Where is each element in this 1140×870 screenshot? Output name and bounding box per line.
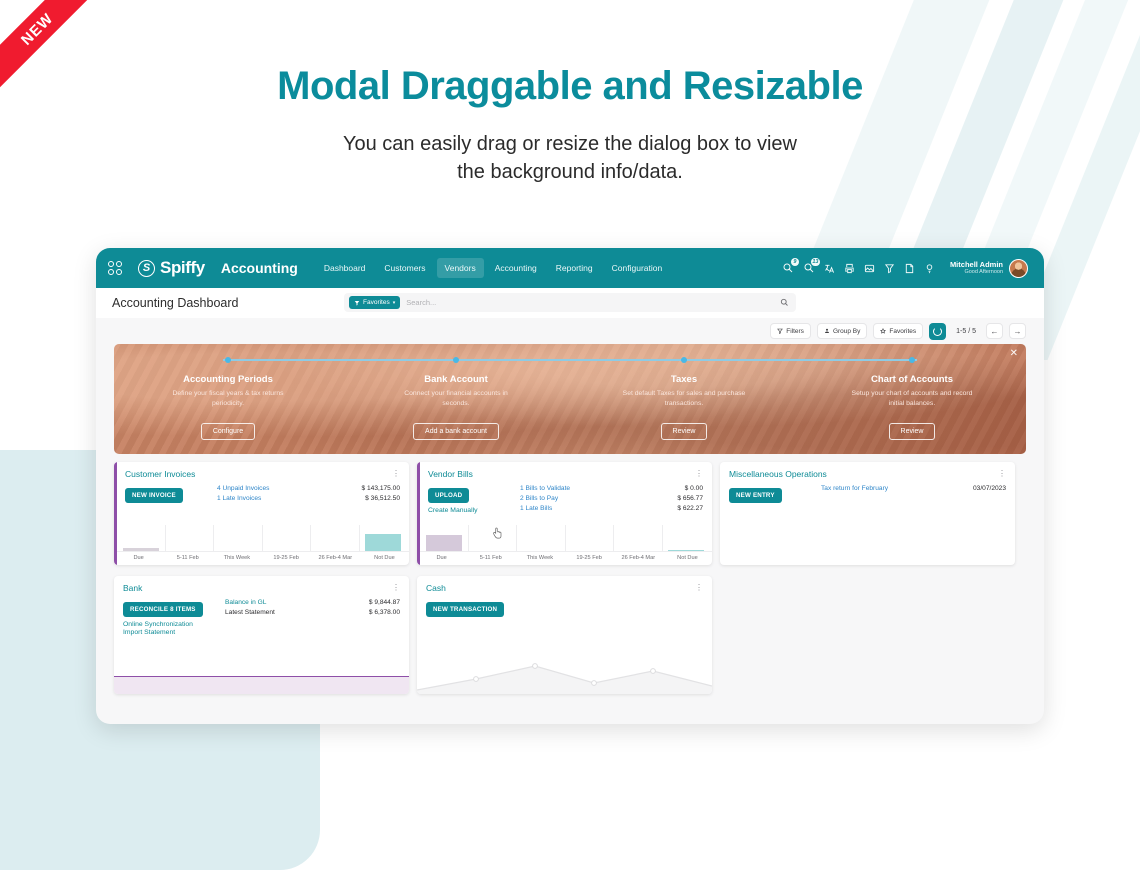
import-statement-link[interactable]: Import Statement: [123, 629, 219, 636]
step-title: Taxes: [671, 374, 697, 385]
bills-to-pay-value: $ 656.77: [677, 494, 703, 504]
search-bar[interactable]: Favorites ▾ Search...: [344, 293, 796, 312]
step-dot-icon: [453, 357, 459, 363]
dashboard-card-row-1: Customer Invoices ⋮ NEW INVOICE 4 Unpaid…: [96, 454, 1044, 565]
app-name-label: Accounting: [221, 260, 298, 276]
onboarding-step-chart-of-accounts: Chart of Accounts Setup your chart of ac…: [798, 344, 1026, 454]
search-input[interactable]: Search...: [406, 298, 780, 307]
late-bills-label[interactable]: 1 Late Bills: [520, 504, 671, 514]
kebab-menu-icon[interactable]: ⋮: [392, 586, 400, 590]
onboarding-step-bank-account: Bank Account Connect your financial acco…: [342, 344, 570, 454]
apps-grid-icon[interactable]: [108, 261, 124, 275]
reconcile-items-button[interactable]: RECONCILE 8 ITEMS: [123, 602, 203, 617]
upload-button[interactable]: UPLOAD: [428, 488, 469, 503]
favorites-button[interactable]: Favorites: [873, 323, 923, 339]
brand-logo[interactable]: S Spiffy: [138, 258, 205, 278]
review-taxes-button[interactable]: Review: [661, 423, 708, 440]
messages-icon[interactable]: 9: [782, 262, 794, 274]
step-desc: Connect your financial accounts in secon…: [392, 389, 520, 409]
kanban-view-button[interactable]: [929, 323, 946, 340]
spiffy-mark-icon: S: [138, 260, 155, 277]
funnel-icon: [354, 300, 360, 306]
favorites-chip[interactable]: Favorites ▾: [349, 296, 400, 309]
bills-to-validate-value: $ 0.00: [677, 484, 703, 494]
user-name: Mitchell Admin: [950, 261, 1003, 270]
promo-subline-line2: the background info/data.: [0, 158, 1140, 186]
latest-statement-value: $ 6,378.00: [369, 608, 400, 618]
group-by-button[interactable]: Group By: [817, 323, 867, 339]
note-icon[interactable]: [904, 263, 915, 274]
messages-badge: 9: [791, 258, 799, 266]
search-icon[interactable]: [780, 298, 789, 307]
step-dot-icon: [909, 357, 915, 363]
filter-funnel-icon[interactable]: [884, 263, 895, 274]
customer-invoices-axis: Due 5-11 Feb This Week 19-25 Feb 26 Feb-…: [114, 551, 409, 565]
axis-tick: Due: [114, 555, 163, 561]
unpaid-invoices-value: $ 143,175.00: [361, 484, 400, 494]
card-bank: Bank ⋮ RECONCILE 8 ITEMS Online Synchron…: [114, 576, 409, 694]
axis-tick: Not Due: [360, 555, 409, 561]
bills-to-pay-label[interactable]: 2 Bills to Pay: [520, 494, 671, 504]
onboarding-banner: ✕ Accounting Periods Define your fiscal …: [114, 344, 1026, 454]
menu-item-accounting[interactable]: Accounting: [487, 258, 545, 278]
card-title: Customer Invoices: [125, 469, 195, 479]
latest-statement-label: Latest Statement: [225, 608, 363, 618]
axis-tick: 19-25 Feb: [262, 555, 311, 561]
new-entry-button[interactable]: NEW ENTRY: [729, 488, 782, 503]
print-icon[interactable]: [844, 263, 855, 274]
create-manually-link[interactable]: Create Manually: [428, 507, 514, 514]
step-title: Chart of Accounts: [871, 374, 953, 385]
pager-next-icon[interactable]: →: [1009, 323, 1026, 339]
menu-item-vendors[interactable]: Vendors: [437, 258, 484, 278]
pager-prev-icon[interactable]: ←: [986, 323, 1003, 339]
menu-item-reporting[interactable]: Reporting: [548, 258, 601, 278]
brand-name: Spiffy: [160, 258, 205, 278]
axis-tick: Not Due: [663, 555, 712, 561]
card-title: Miscellaneous Operations: [729, 469, 827, 479]
axis-tick: 26 Feb-4 Mar: [311, 555, 360, 561]
balance-in-gl-value: $ 9,844.87: [369, 598, 400, 608]
new-invoice-button[interactable]: NEW INVOICE: [125, 488, 183, 503]
bills-to-validate-label[interactable]: 1 Bills to Validate: [520, 484, 671, 494]
balance-in-gl-label[interactable]: Balance in GL: [225, 598, 363, 608]
axis-tick: Due: [417, 555, 466, 561]
late-bills-value: $ 622.27: [677, 504, 703, 514]
card-vendor-bills: Vendor Bills ⋮ UPLOAD Create Manually 1 …: [417, 462, 712, 565]
card-customer-invoices: Customer Invoices ⋮ NEW INVOICE 4 Unpaid…: [114, 462, 409, 565]
pager-count: 1-5 / 5: [952, 328, 980, 335]
sub-header: Accounting Dashboard Favorites ▾ Search.…: [96, 288, 1044, 318]
late-invoices-value: $ 36,512.50: [361, 494, 400, 504]
breadcrumb: Accounting Dashboard: [112, 296, 238, 310]
promo-subline: You can easily drag or resize the dialog…: [0, 130, 1140, 187]
main-menu: Dashboard Customers Vendors Accounting R…: [316, 258, 670, 278]
menu-item-dashboard[interactable]: Dashboard: [316, 258, 374, 278]
navbar-actions: 9 13: [782, 259, 1032, 278]
user-greeting: Good Afternoon: [950, 269, 1003, 275]
axis-tick: 5-11 Feb: [466, 555, 515, 561]
vendor-bills-bar-chart: [417, 525, 712, 551]
step-desc: Define your fiscal years & tax returns p…: [164, 389, 292, 409]
onboarding-steps: Accounting Periods Define your fiscal ye…: [114, 344, 1026, 454]
cash-balance-graph: [417, 648, 712, 694]
promo-headline-wrap: Modal Draggable and Resizable: [0, 64, 1140, 109]
customer-invoices-bar-chart: [114, 525, 409, 551]
onboarding-step-taxes: Taxes Set default Taxes for sales and pu…: [570, 344, 798, 454]
lightbulb-icon[interactable]: [924, 263, 935, 274]
configure-button[interactable]: Configure: [201, 423, 255, 440]
axis-tick: 19-25 Feb: [565, 555, 614, 561]
kebab-menu-icon[interactable]: ⋮: [392, 472, 400, 476]
kebab-menu-icon[interactable]: ⋮: [998, 472, 1006, 476]
tax-return-label[interactable]: Tax return for February: [821, 484, 948, 494]
new-transaction-button[interactable]: NEW TRANSACTION: [426, 602, 504, 617]
new-ribbon: NEW: [0, 0, 90, 90]
avatar[interactable]: [1009, 259, 1028, 278]
add-bank-account-button[interactable]: Add a bank account: [413, 423, 499, 440]
onboarding-step-accounting-periods: Accounting Periods Define your fiscal ye…: [114, 344, 342, 454]
user-menu[interactable]: Mitchell Admin Good Afternoon: [950, 259, 1028, 278]
new-ribbon-label: NEW: [18, 10, 57, 49]
step-dot-icon: [681, 357, 687, 363]
mouse-cursor: [490, 526, 502, 547]
app-window: S Spiffy Accounting Dashboard Customers …: [96, 248, 1044, 724]
favorites-label: Favorites: [889, 328, 916, 335]
axis-tick: 5-11 Feb: [163, 555, 212, 561]
late-invoices-label[interactable]: 1 Late Invoices: [217, 494, 355, 504]
translate-icon[interactable]: [824, 263, 835, 274]
card-title: Cash: [426, 583, 446, 593]
filters-button[interactable]: Filters: [770, 323, 811, 339]
axis-tick: This Week: [212, 555, 261, 561]
online-synchronization-link[interactable]: Online Synchronization: [123, 621, 219, 628]
card-title: Bank: [123, 583, 142, 593]
step-title: Bank Account: [424, 374, 488, 385]
card-cash: Cash ⋮ NEW TRANSACTION: [417, 576, 712, 694]
promo-subline-line1: You can easily drag or resize the dialog…: [0, 130, 1140, 158]
view-controls: Filters Group By Favorites 1-5 / 5 ← →: [96, 318, 1044, 344]
axis-tick: 26 Feb-4 Mar: [614, 555, 663, 561]
unpaid-invoices-label[interactable]: 4 Unpaid Invoices: [217, 484, 355, 494]
card-misc-operations: Miscellaneous Operations ⋮ NEW ENTRY Tax…: [720, 462, 1015, 565]
banner-close-icon[interactable]: ✕: [1010, 349, 1018, 359]
activities-badge: 13: [811, 258, 820, 266]
filters-label: Filters: [786, 328, 804, 335]
gallery-icon[interactable]: [864, 263, 875, 274]
step-title: Accounting Periods: [183, 374, 273, 385]
card-title: Vendor Bills: [428, 469, 473, 479]
kebab-menu-icon[interactable]: ⋮: [695, 472, 703, 476]
menu-item-configuration[interactable]: Configuration: [604, 258, 671, 278]
step-desc: Setup your chart of accounts and record …: [848, 389, 976, 409]
review-accounts-button[interactable]: Review: [889, 423, 936, 440]
menu-item-customers[interactable]: Customers: [376, 258, 433, 278]
page-title: Modal Draggable and Resizable: [0, 64, 1140, 109]
favorites-chip-label: Favorites: [363, 299, 390, 306]
kebab-menu-icon[interactable]: ⋮: [695, 586, 703, 590]
bank-balance-graph: [114, 676, 409, 694]
vendor-bills-axis: Due 5-11 Feb This Week 19-25 Feb 26 Feb-…: [417, 551, 712, 565]
step-desc: Set default Taxes for sales and purchase…: [620, 389, 748, 409]
axis-tick: This Week: [515, 555, 564, 561]
group-by-label: Group By: [833, 328, 860, 335]
top-navbar: S Spiffy Accounting Dashboard Customers …: [96, 248, 1044, 288]
step-dot-icon: [225, 357, 231, 363]
dashboard-card-row-2: Bank ⋮ RECONCILE 8 ITEMS Online Synchron…: [96, 568, 1044, 694]
tax-return-date: 03/07/2023: [954, 484, 1006, 494]
activities-icon[interactable]: 13: [803, 262, 815, 274]
